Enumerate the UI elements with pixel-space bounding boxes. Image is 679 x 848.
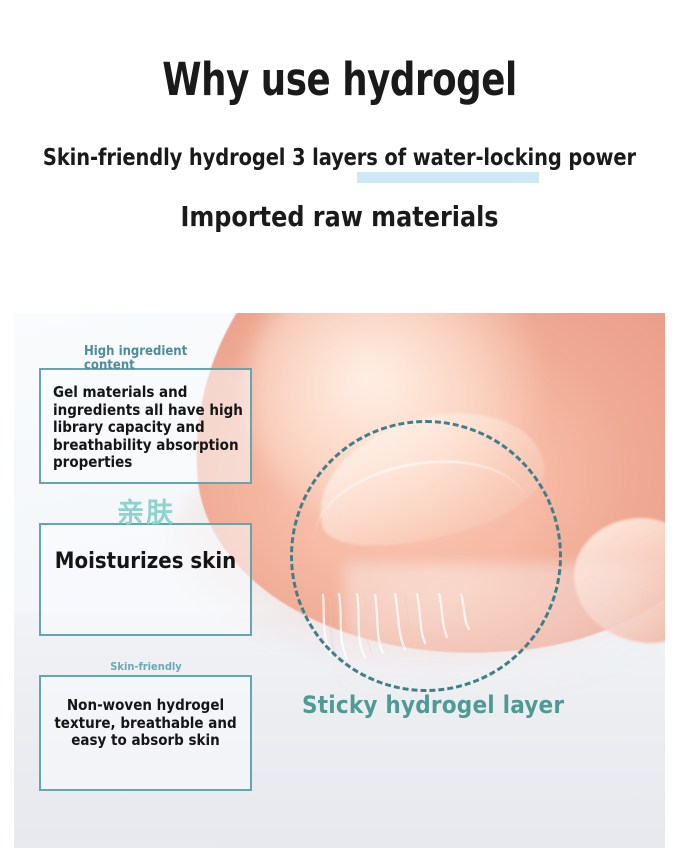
callout-body-text: Gel materials and ingredients all have h… <box>53 384 245 472</box>
secondary-heading: Imported raw materials <box>17 200 662 233</box>
highlight-dashed-circle <box>290 420 562 692</box>
callout-tag-qinfu: 亲肤 <box>96 500 196 528</box>
callout-body-text: Non-woven hydrogel texture, breathable a… <box>47 697 244 750</box>
page-title: Why use hydrogel <box>41 56 639 103</box>
callout-tag-skin-friendly: Skin-friendly <box>88 661 204 673</box>
sticky-hydrogel-layer-caption: Sticky hydrogel layer <box>302 691 564 719</box>
subtitle-row: Skin-friendly hydrogel 3 layers of water… <box>0 145 679 171</box>
callout-tag-high-ingredient: High ingredient content <box>84 345 234 372</box>
subtitle: Skin-friendly hydrogel 3 layers of water… <box>43 145 636 171</box>
callout-body-text: Moisturizes skin <box>41 549 250 575</box>
callout-box-moisturizes-skin: Moisturizes skin <box>39 523 252 636</box>
header-text-block: Why use hydrogel Skin-friendly hydrogel … <box>0 0 679 313</box>
subtitle-highlight-band <box>357 172 539 183</box>
callout-box-non-woven: Non-woven hydrogel texture, breathable a… <box>39 675 252 791</box>
callout-box-high-ingredient: Gel materials and ingredients all have h… <box>39 368 252 484</box>
